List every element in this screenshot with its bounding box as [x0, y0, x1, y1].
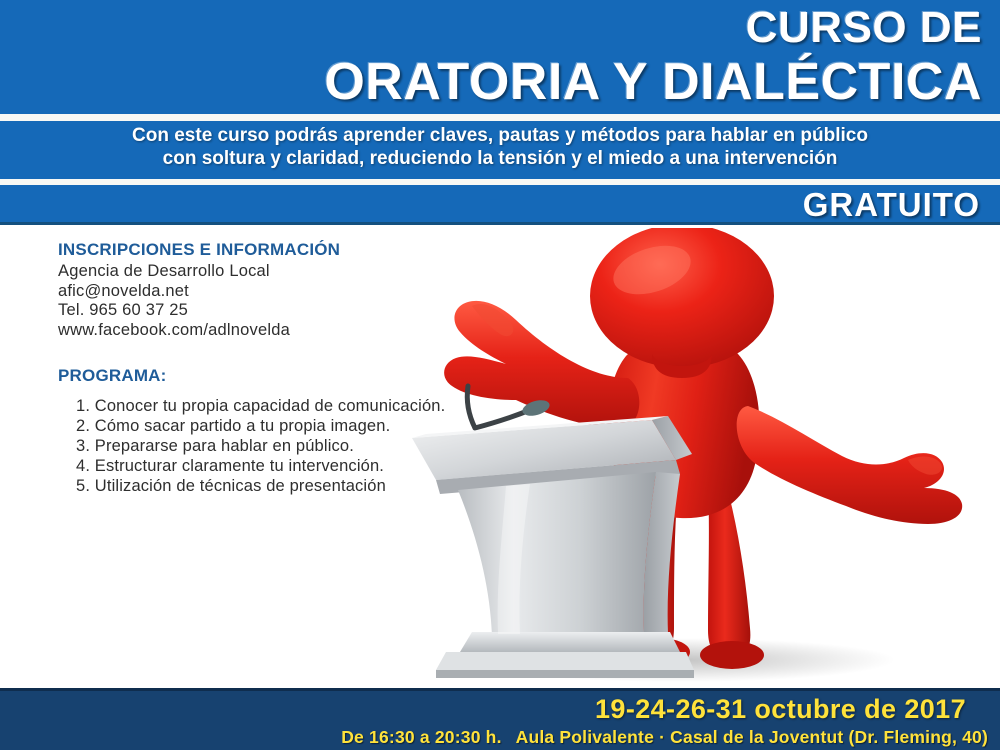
title-line-primary: CURSO DE	[0, 0, 982, 50]
free-badge: GRATUITO	[0, 186, 1000, 224]
poster: CURSO DE ORATORIA Y DIALÉCTICA Con este …	[0, 0, 1000, 750]
free-label: GRATUITO	[803, 186, 980, 223]
subtitle-line-2: con soltura y claridad, reduciendo la te…	[22, 147, 978, 170]
title-line-secondary: ORATORIA Y DIALÉCTICA	[0, 50, 982, 108]
contact-details: Agencia de Desarrollo Local afic@novelda…	[58, 262, 528, 340]
contact-phone: Tel. 965 60 37 25	[58, 301, 528, 321]
info-column: INSCRIPCIONES E INFORMACIÓN Agencia de D…	[58, 240, 528, 496]
program-item: 2. Cómo sacar partido a tu propia imagen…	[58, 416, 528, 436]
poster-subtitle: Con este curso podrás aprender claves, p…	[0, 124, 1000, 170]
program-item: 3. Prepararse para hablar en público.	[58, 436, 528, 456]
course-dates: 19-24-26-31 octubre de 2017	[0, 694, 1000, 725]
program-item: 4. Estructurar claramente tu intervenció…	[58, 456, 528, 476]
footer-detail: De 16:30 a 20:30 h.Aula Polivalente · Ca…	[0, 727, 1000, 748]
program-heading: PROGRAMA:	[58, 366, 528, 386]
contact-email: afic@novelda.net	[58, 282, 528, 302]
contact-organization: Agencia de Desarrollo Local	[58, 262, 528, 282]
divider-top	[0, 114, 1000, 121]
program-item: 5. Utilización de técnicas de presentaci…	[58, 476, 528, 496]
contact-facebook: www.facebook.com/adlnovelda	[58, 321, 528, 341]
course-venue: Aula Polivalente · Casal de la Joventut …	[516, 727, 988, 747]
inscriptions-heading: INSCRIPCIONES E INFORMACIÓN	[58, 240, 528, 260]
program-item: 1. Conocer tu propia capacidad de comuni…	[58, 396, 528, 416]
subtitle-line-1: Con este curso podrás aprender claves, p…	[22, 124, 978, 147]
divider-bottom	[0, 179, 1000, 185]
course-time: De 16:30 a 20:30 h.	[341, 727, 501, 747]
program-list: 1. Conocer tu propia capacidad de comuni…	[58, 396, 528, 496]
poster-title: CURSO DE ORATORIA Y DIALÉCTICA	[0, 0, 1000, 114]
